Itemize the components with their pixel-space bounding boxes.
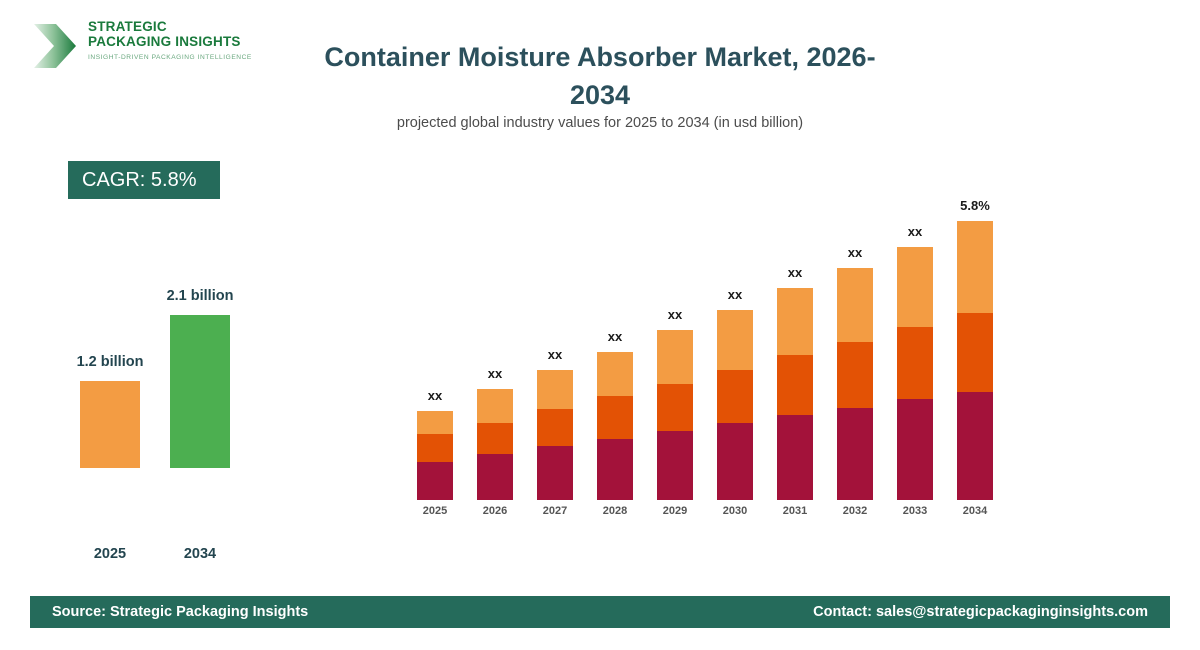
stacked-bar-segment xyxy=(777,415,813,500)
stacked-bar-segment xyxy=(777,355,813,415)
stacked-bar-segment xyxy=(477,389,513,423)
stacked-bar-segment xyxy=(477,454,513,500)
stacked-bar-year-label: 2030 xyxy=(723,505,747,517)
stacked-bar-year-label: 2025 xyxy=(423,505,447,517)
stacked-bar-segment xyxy=(837,268,873,343)
stacked-bar: xx2026 xyxy=(477,389,513,500)
stacked-bar-value-label: xx xyxy=(488,366,502,381)
bar-fill xyxy=(80,381,140,468)
stacked-bar-segment xyxy=(897,327,933,399)
stacked-bar-year-label: 2031 xyxy=(783,505,807,517)
stacked-bar: xx2027 xyxy=(537,370,573,500)
stacked-bar-segment xyxy=(537,409,573,446)
stacked-bar-value-label: xx xyxy=(428,388,442,403)
stacked-bar-segment xyxy=(957,392,993,500)
stacked-bar-segment xyxy=(417,462,453,500)
comparison-bar xyxy=(170,315,230,468)
stacked-bar-segment xyxy=(537,370,573,409)
stacked-bar-segment xyxy=(897,399,933,500)
stacked-bar: 5.8%2034 xyxy=(957,221,993,500)
stacked-bar-segment xyxy=(897,247,933,327)
stacked-bar-year-label: 2032 xyxy=(843,505,867,517)
stacked-bar-segment xyxy=(417,411,453,435)
page-subtitle: projected global industry values for 202… xyxy=(300,115,900,131)
footer-contact: Contact: sales@strategicpackaginginsight… xyxy=(813,604,1148,620)
stacked-bar-segment xyxy=(597,439,633,500)
stacked-bar-value-label: xx xyxy=(728,287,742,302)
bar-fill xyxy=(170,315,230,468)
stacked-bar: xx2029 xyxy=(657,330,693,500)
stacked-bar-value-label: xx xyxy=(788,265,802,280)
stacked-bar-value-label: xx xyxy=(548,347,562,362)
stacked-bar-segment xyxy=(837,342,873,408)
footer-source: Source: Strategic Packaging Insights xyxy=(52,604,308,620)
stacked-bar: xx2032 xyxy=(837,268,873,500)
stacked-bar-year-label: 2034 xyxy=(963,505,987,517)
stacked-bar-segment xyxy=(597,396,633,439)
stacked-bar-year-label: 2029 xyxy=(663,505,687,517)
stacked-bar-segment xyxy=(717,370,753,424)
stacked-bar-segment xyxy=(657,384,693,431)
stacked-bar-segment xyxy=(717,423,753,500)
stacked-bar-value-label: 5.8% xyxy=(960,198,990,213)
stacked-bar-segment xyxy=(477,423,513,454)
footer-bar: Source: Strategic Packaging Insights Con… xyxy=(30,596,1170,628)
stacked-bar-segment xyxy=(837,408,873,500)
stacked-bar-value-label: xx xyxy=(848,245,862,260)
comparison-bar xyxy=(80,381,140,468)
stacked-bar-year-label: 2033 xyxy=(903,505,927,517)
stacked-bar-value-label: xx xyxy=(608,329,622,344)
stacked-bar: xx2030 xyxy=(717,310,753,500)
stacked-bar: xx2028 xyxy=(597,352,633,500)
comparison-value-label: 2.1 billion xyxy=(150,288,250,304)
stacked-bar-segment xyxy=(777,288,813,355)
page-title: Container Moisture Absorber Market, 2026… xyxy=(300,38,900,114)
stacked-bar: xx2031 xyxy=(777,288,813,500)
stacked-bar-segment xyxy=(657,330,693,384)
stacked-bar-segment xyxy=(597,352,633,396)
stacked-bar-segment xyxy=(717,310,753,370)
stacked-bar-segment xyxy=(957,313,993,392)
stacked-bar-segment xyxy=(957,221,993,313)
stacked-bar-segment xyxy=(657,431,693,500)
comparison-year-label: 2025 xyxy=(60,546,160,562)
endpoint-comparison-chart: 1.2 billion20252.1 billion2034 xyxy=(0,0,330,580)
stacked-bar-value-label: xx xyxy=(668,307,682,322)
comparison-value-label: 1.2 billion xyxy=(60,354,160,370)
comparison-year-label: 2034 xyxy=(150,546,250,562)
stacked-bar-segment xyxy=(417,434,453,462)
stacked-bar-year-label: 2027 xyxy=(543,505,567,517)
stacked-bar-segment xyxy=(537,446,573,500)
stacked-bar: xx2033 xyxy=(897,247,933,500)
stacked-bar-value-label: xx xyxy=(908,224,922,239)
stacked-bar-year-label: 2028 xyxy=(603,505,627,517)
stacked-bar: xx2025 xyxy=(417,411,453,500)
stacked-bar-year-label: 2026 xyxy=(483,505,507,517)
stacked-forecast-chart: xx2025xx2026xx2027xx2028xx2029xx2030xx20… xyxy=(405,195,1015,560)
